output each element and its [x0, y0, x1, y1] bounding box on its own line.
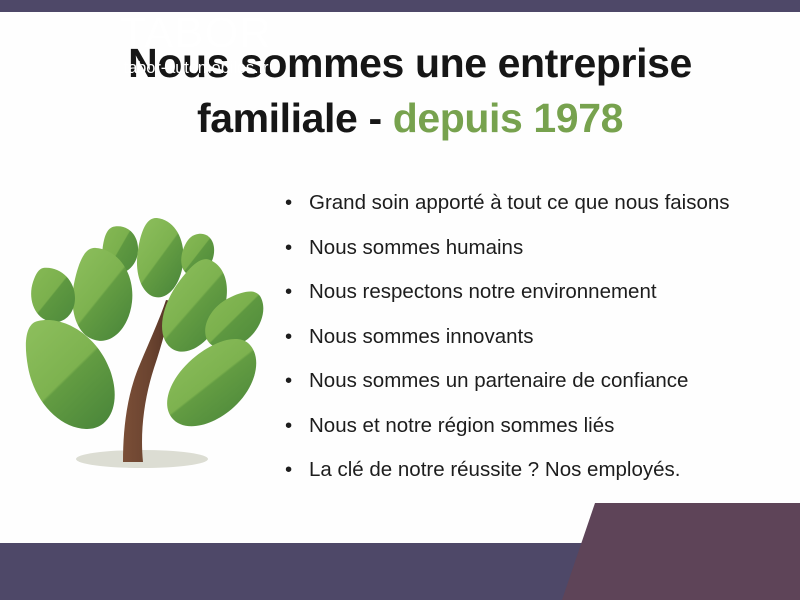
- headline-line-2-plain: familiale -: [197, 95, 393, 141]
- list-item-label: Nous sommes un partenaire de confiance: [309, 369, 688, 392]
- list-item-label: Nous sommes innovants: [309, 325, 533, 348]
- bullet-marker-icon: •: [285, 235, 292, 260]
- tree-illustration: [20, 196, 266, 488]
- bullet-marker-icon: •: [285, 324, 292, 349]
- list-item-label: Nous sommes humains: [309, 236, 523, 259]
- bullet-marker-icon: •: [285, 413, 292, 438]
- leaf-lower-right: [167, 339, 256, 426]
- list-item: • Nous et notre région sommes liés: [283, 413, 783, 438]
- slide-canvas: Nous sommes une entreprise familiale - d…: [0, 0, 800, 600]
- bullet-marker-icon: •: [285, 190, 292, 215]
- list-item-label: Nous et notre région sommes liés: [309, 414, 614, 437]
- value-bullet-list: • Grand soin apporté à tout ce que nous …: [283, 190, 783, 502]
- brand-logo: TABOR tabor-automobiles.fr: [98, 10, 294, 78]
- list-item: • Grand soin apporté à tout ce que nous …: [283, 190, 783, 215]
- list-item: • Nous sommes humains: [283, 235, 783, 260]
- list-item: • Nous sommes innovants: [283, 324, 783, 349]
- headline-accent: depuis 1978: [393, 95, 623, 141]
- list-item: • Nous sommes un partenaire de confiance: [283, 368, 783, 393]
- list-item-label: La clé de notre réussite ? Nos employés.: [309, 458, 680, 481]
- bullet-marker-icon: •: [285, 279, 292, 304]
- list-item-label: Nous respectons notre environnement: [309, 280, 657, 303]
- list-item-label: Grand soin apporté à tout ce que nous fa…: [309, 191, 730, 214]
- bullet-marker-icon: •: [285, 457, 292, 482]
- brand-wordmark: TABOR: [98, 10, 294, 56]
- leaf-left-small: [31, 268, 75, 322]
- list-item: • Nous respectons notre environnement: [283, 279, 783, 304]
- brand-website-url: tabor-automobiles.fr: [98, 58, 294, 78]
- list-item: • La clé de notre réussite ? Nos employé…: [283, 457, 783, 482]
- bullet-marker-icon: •: [285, 368, 292, 393]
